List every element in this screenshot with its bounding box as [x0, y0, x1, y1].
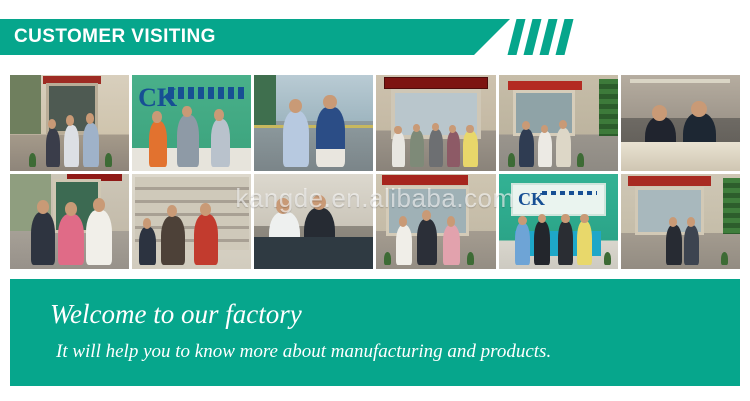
- person-silhouette: [534, 221, 549, 265]
- person-silhouette: [684, 225, 699, 265]
- customer-visit-photo-grid: CK: [10, 75, 740, 269]
- person-silhouette: [392, 132, 405, 166]
- company-name-text: [168, 87, 247, 98]
- stripe-2-icon: [523, 19, 543, 55]
- welcome-panel: Welcome to our factory It will help you …: [10, 279, 740, 386]
- person-silhouette: [161, 216, 185, 266]
- product-table: [254, 237, 373, 269]
- person-silhouette: [519, 129, 534, 167]
- ceiling-light: [630, 79, 730, 83]
- person-head: [200, 203, 211, 215]
- person-silhouette: [538, 131, 552, 166]
- person-silhouette: [283, 111, 309, 166]
- person-head: [93, 198, 105, 211]
- person-silhouette: [417, 219, 437, 265]
- person-head: [691, 101, 706, 117]
- person-head: [182, 106, 192, 117]
- person-silhouette: [577, 221, 591, 265]
- person-silhouette: [177, 115, 198, 167]
- company-name-text: [542, 191, 597, 195]
- potted-plant: [467, 252, 474, 265]
- handrail: [254, 125, 373, 128]
- photo-3: [254, 75, 373, 171]
- potted-plant: [577, 153, 584, 166]
- page-title: CUSTOMER VISITING: [14, 19, 216, 55]
- person-silhouette: [83, 123, 100, 167]
- person-silhouette: [58, 214, 84, 266]
- potted-plant: [604, 252, 611, 265]
- photo-6: [621, 75, 740, 171]
- person-silhouette: [64, 125, 79, 167]
- person-head: [652, 105, 667, 121]
- person-silhouette: [316, 107, 345, 166]
- photo-10: [376, 174, 495, 270]
- person-silhouette: [558, 221, 572, 265]
- person-silhouette: [410, 130, 424, 166]
- person-head: [143, 218, 151, 229]
- person-head: [394, 126, 401, 135]
- photo-5: [499, 75, 618, 171]
- welcome-banner-sign: [508, 81, 582, 91]
- customer-visiting-banner-page: CUSTOMER VISITING CK: [0, 0, 750, 401]
- photo-9: [254, 174, 373, 270]
- potted-plant: [508, 153, 515, 166]
- person-silhouette: [447, 131, 460, 166]
- person-head: [323, 95, 336, 109]
- person-silhouette: [31, 212, 55, 265]
- person-head: [276, 198, 290, 213]
- person-head: [447, 216, 455, 227]
- person-silhouette: [666, 225, 681, 265]
- green-shelving: [723, 178, 740, 233]
- person-silhouette: [86, 210, 112, 265]
- person-silhouette: [139, 227, 156, 265]
- person-silhouette: [396, 225, 413, 265]
- factory-sign: [628, 176, 711, 186]
- section-header: CUSTOMER VISITING: [0, 19, 750, 55]
- building-wall: [254, 75, 275, 128]
- person-head: [466, 125, 473, 134]
- photo-4: [376, 75, 495, 171]
- person-head: [152, 111, 162, 122]
- person-silhouette: [211, 119, 230, 167]
- person-head: [66, 115, 74, 126]
- header-stripes-decoration: [506, 19, 591, 55]
- led-welcome-sign: [384, 77, 489, 89]
- person-head: [312, 195, 326, 210]
- person-silhouette: [556, 128, 571, 167]
- person-silhouette: [515, 223, 529, 265]
- photo-8: [132, 174, 251, 270]
- person-head: [561, 214, 569, 224]
- workbench: [621, 142, 740, 171]
- person-head: [289, 99, 302, 113]
- person-head: [518, 216, 526, 226]
- person-silhouette: [443, 225, 460, 265]
- led-text: [394, 78, 478, 79]
- photo-11: CK: [499, 174, 618, 270]
- person-silhouette: [149, 121, 167, 167]
- stripe-4-icon: [555, 19, 575, 55]
- person-silhouette: [463, 131, 477, 166]
- green-shelving: [599, 79, 618, 136]
- person-head: [86, 113, 94, 124]
- person-head: [37, 200, 49, 213]
- company-signboard: CK: [511, 183, 606, 215]
- stripe-3-icon: [539, 19, 559, 55]
- person-silhouette: [194, 214, 218, 266]
- potted-plant: [29, 153, 36, 166]
- stripe-1-icon: [507, 19, 527, 55]
- person-head: [214, 109, 224, 120]
- photo-7: [10, 174, 129, 270]
- potted-plant: [721, 252, 728, 265]
- person-silhouette: [429, 129, 443, 166]
- photo-2: CK: [132, 75, 251, 171]
- building-wall: [10, 75, 41, 134]
- person-silhouette: [46, 129, 60, 167]
- person-head: [580, 214, 588, 224]
- welcome-heading: Welcome to our factory: [50, 299, 302, 330]
- photo-12: [621, 174, 740, 270]
- welcome-banner-sign: [382, 175, 468, 185]
- potted-plant: [384, 252, 391, 265]
- potted-plant: [105, 153, 112, 166]
- person-head: [65, 202, 77, 215]
- photo-1: [10, 75, 129, 171]
- welcome-subheading: It will help you to know more about manu…: [56, 341, 551, 363]
